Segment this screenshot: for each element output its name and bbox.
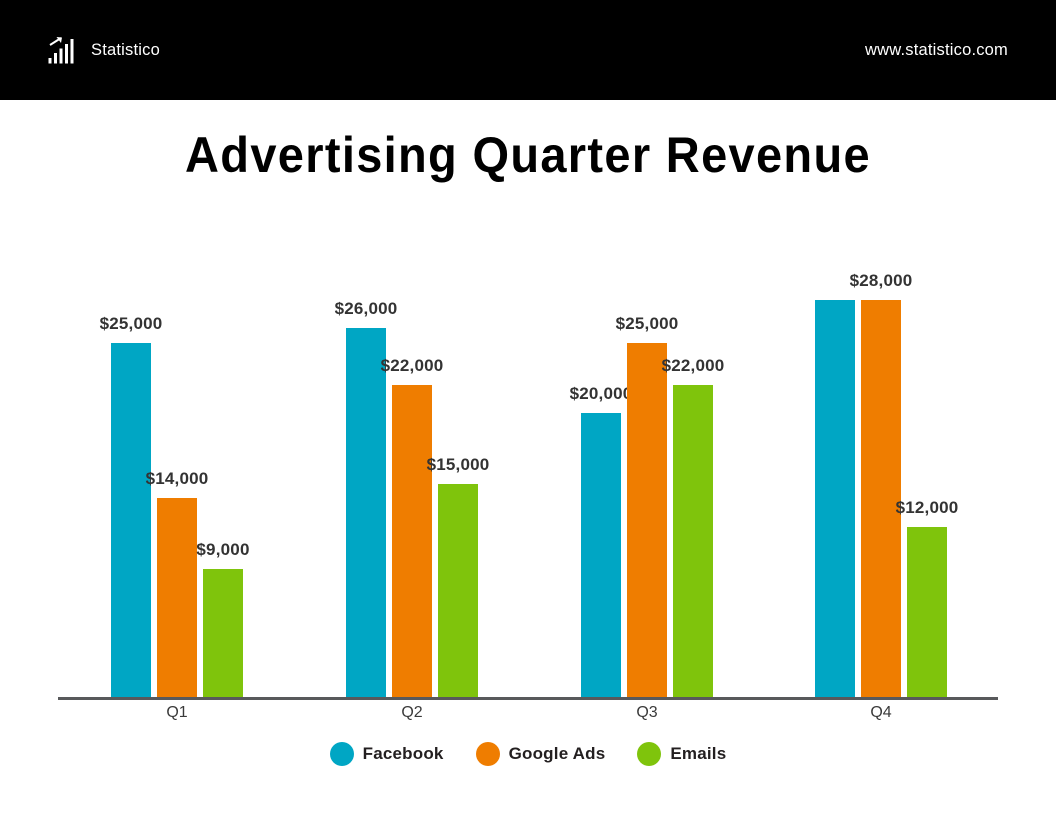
bar-chart-plot-area: $25,000$14,000$9,000Q1$26,000$22,000$15,… bbox=[58, 230, 998, 697]
bar-value-label-q3-google-ads: $25,000 bbox=[616, 314, 679, 334]
legend-swatch-google-ads bbox=[476, 742, 500, 766]
x-axis-label-q2: Q2 bbox=[401, 704, 422, 722]
bar-q3-facebook[interactable] bbox=[581, 413, 621, 697]
bar-group-q3: $20,000$25,000$22,000Q3 bbox=[581, 230, 713, 697]
legend-label-google-ads: Google Ads bbox=[509, 744, 606, 764]
bar-q2-emails[interactable] bbox=[438, 484, 478, 697]
bar-q2-facebook[interactable] bbox=[346, 328, 386, 697]
page-header: Statistico www.statistico.com bbox=[0, 0, 1056, 100]
bar-value-label-q2-google-ads: $22,000 bbox=[381, 356, 444, 376]
site-url: www.statistico.com bbox=[865, 41, 1008, 60]
x-axis-label-q1: Q1 bbox=[166, 704, 187, 722]
legend-label-facebook: Facebook bbox=[363, 744, 444, 764]
bar-value-label-q3-emails: $22,000 bbox=[662, 356, 725, 376]
bar-value-label-q1-emails: $9,000 bbox=[196, 540, 249, 560]
bar-value-label-q1-facebook: $25,000 bbox=[100, 314, 163, 334]
bar-q1-google-ads[interactable] bbox=[157, 498, 197, 697]
x-axis-label-q4: Q4 bbox=[870, 704, 891, 722]
bar-value-label-q4-google-ads: $28,000 bbox=[850, 271, 913, 291]
bar-value-label-q2-emails: $15,000 bbox=[427, 455, 490, 475]
x-axis-line bbox=[58, 697, 998, 700]
legend-item-emails[interactable]: Emails bbox=[637, 742, 726, 766]
bar-q2-google-ads[interactable] bbox=[392, 385, 432, 697]
legend-item-facebook[interactable]: Facebook bbox=[330, 742, 444, 766]
chart-title: Advertising Quarter Revenue bbox=[32, 126, 1025, 184]
bar-value-label-q1-google-ads: $14,000 bbox=[146, 469, 209, 489]
bar-q3-google-ads[interactable] bbox=[627, 343, 667, 697]
bar-chart-growth-icon bbox=[48, 36, 78, 64]
brand-name: Statistico bbox=[91, 41, 160, 60]
bar-group-q2: $26,000$22,000$15,000Q2 bbox=[346, 230, 478, 697]
legend-swatch-emails bbox=[637, 742, 661, 766]
bar-q1-emails[interactable] bbox=[203, 569, 243, 697]
bar-value-label-q4-emails: $12,000 bbox=[896, 498, 959, 518]
bar-q4-facebook[interactable] bbox=[815, 300, 855, 697]
brand: Statistico bbox=[48, 36, 160, 64]
bar-value-label-q2-facebook: $26,000 bbox=[335, 299, 398, 319]
legend-label-emails: Emails bbox=[670, 744, 726, 764]
bar-q1-facebook[interactable] bbox=[111, 343, 151, 697]
chart-legend: Facebook Google Ads Emails bbox=[0, 742, 1056, 766]
legend-swatch-facebook bbox=[330, 742, 354, 766]
bar-q3-emails[interactable] bbox=[673, 385, 713, 697]
x-axis-label-q3: Q3 bbox=[636, 704, 657, 722]
bar-q4-emails[interactable] bbox=[907, 527, 947, 697]
bar-group-q4: $28,000$12,000Q4 bbox=[815, 230, 947, 697]
bar-group-q1: $25,000$14,000$9,000Q1 bbox=[111, 230, 243, 697]
legend-item-google-ads[interactable]: Google Ads bbox=[476, 742, 606, 766]
bar-value-label-q3-facebook: $20,000 bbox=[570, 384, 633, 404]
